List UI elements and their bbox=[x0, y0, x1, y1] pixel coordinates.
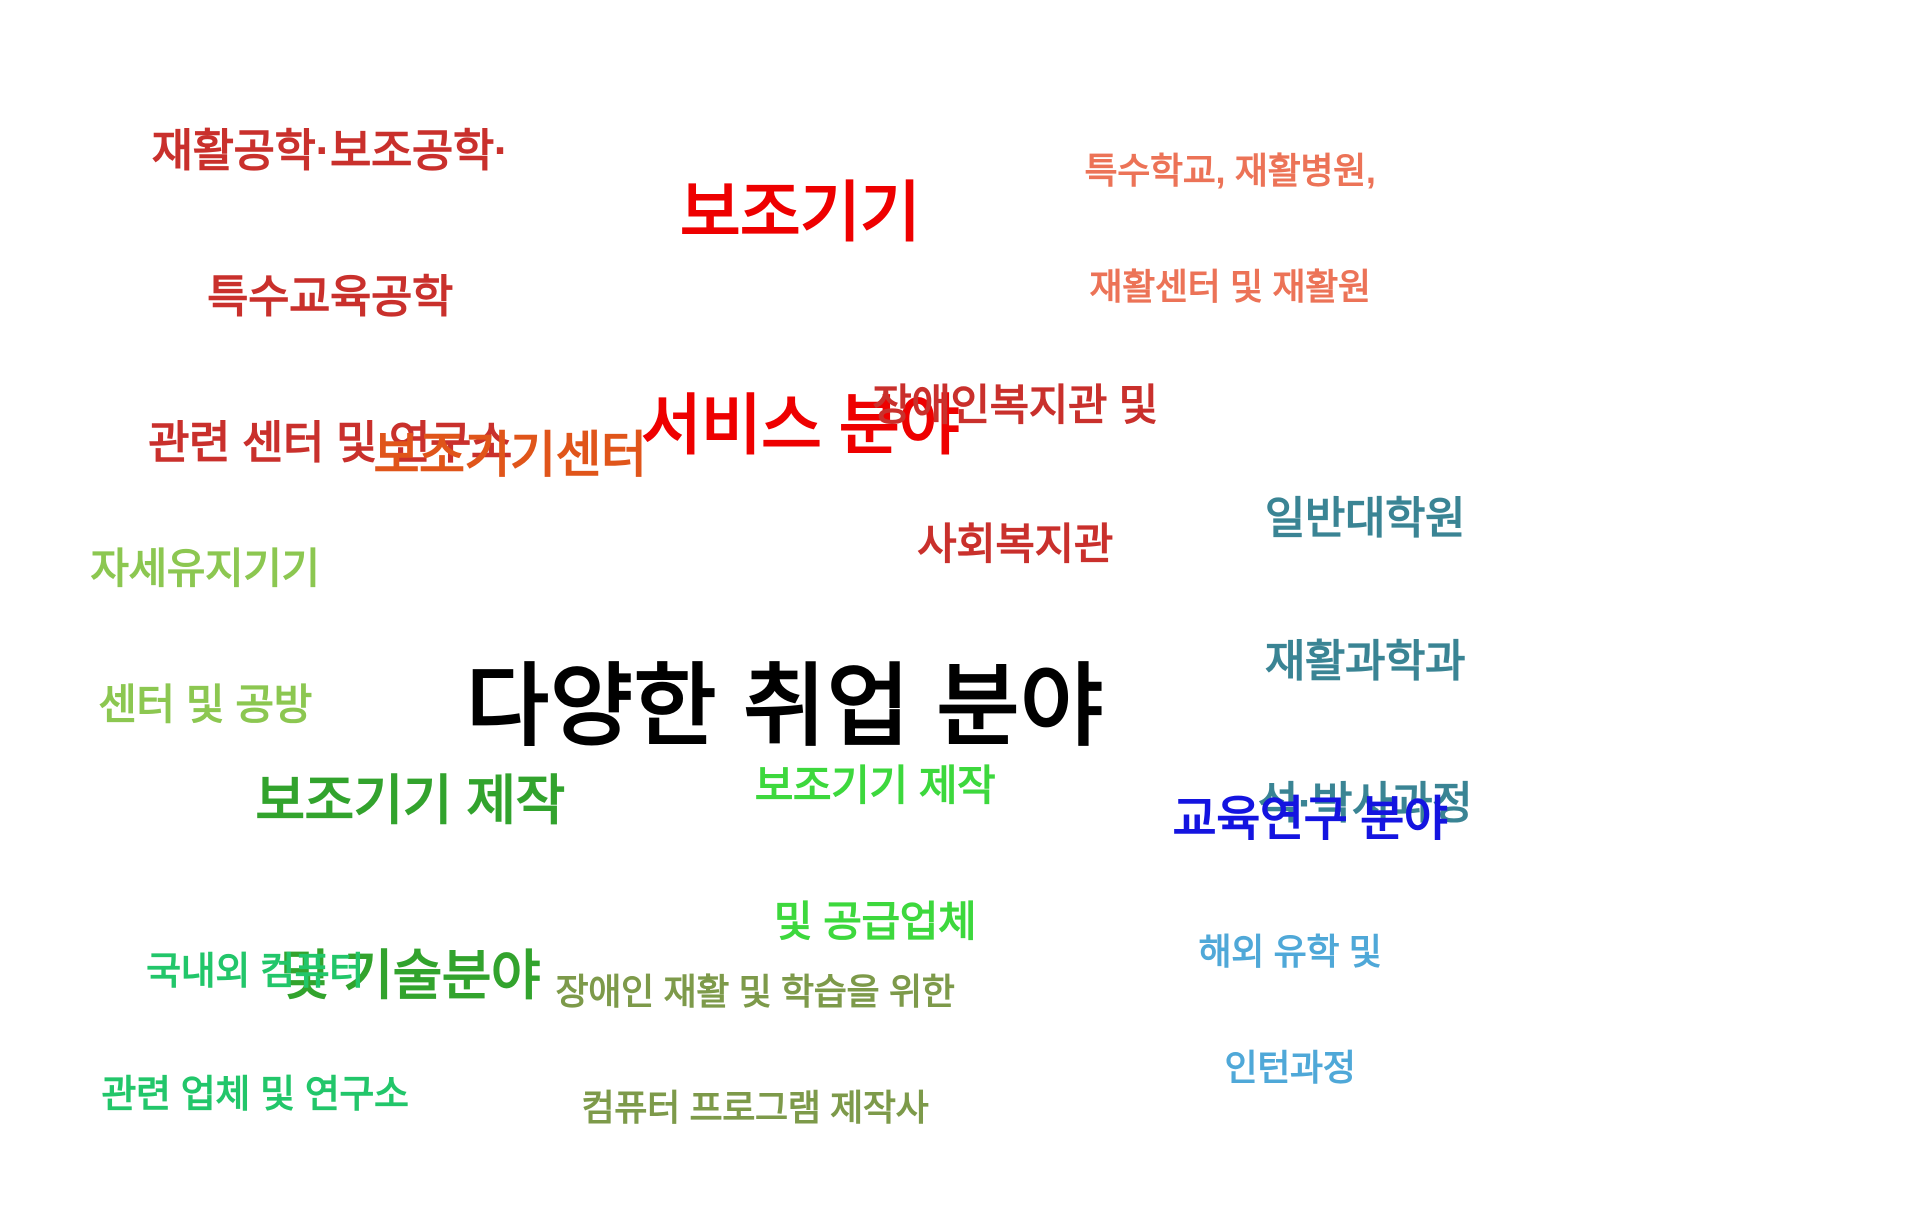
word-line: 장애인 재활 및 학습을 위한 bbox=[500, 973, 1010, 1012]
word-line: 특수학교, 재활병원, bbox=[1040, 152, 1420, 191]
word-line: 해외 유학 및 bbox=[1140, 933, 1440, 972]
word-line: 장애인복지관 및 bbox=[830, 383, 1200, 429]
word-rehab-learning-program-developer: 장애인 재활 및 학습을 위한 컴퓨터 프로그램 제작사 bbox=[500, 895, 1010, 1206]
word-line: 특수교육공학 bbox=[90, 273, 570, 322]
word-line: 보조기기 제작 bbox=[710, 763, 1040, 808]
word-line: 자세유지기기 bbox=[40, 546, 370, 591]
word-line: 교육연구 분야 bbox=[1090, 794, 1530, 846]
word-line: 국내외 컴퓨터 bbox=[55, 952, 455, 993]
word-overseas-study-internship: 해외 유학 및 인턴과정 bbox=[1140, 855, 1440, 1166]
word-line: 인턴과정 bbox=[1140, 1049, 1440, 1088]
word-line: 보조기기 bbox=[600, 177, 1000, 248]
word-cloud-canvas: 재활공학·보조공학· 특수교육공학 관련 센터 및 연구소 보조기기 서비스 분… bbox=[0, 0, 1920, 1080]
word-line: 일반대학원 bbox=[1205, 495, 1525, 543]
word-line: 재활공학·보조공학· bbox=[90, 127, 570, 176]
word-line: 재활과학과 bbox=[1205, 638, 1525, 686]
word-line: 컴퓨터 프로그램 제작사 bbox=[500, 1089, 1010, 1128]
word-domestic-overseas-computer-companies: 국내외 컴퓨터 관련 업체 및 연구소 bbox=[55, 870, 455, 1198]
word-line: 관련 업체 및 연구소 bbox=[55, 1075, 455, 1116]
word-line: 보조기기 제작 bbox=[185, 772, 635, 830]
